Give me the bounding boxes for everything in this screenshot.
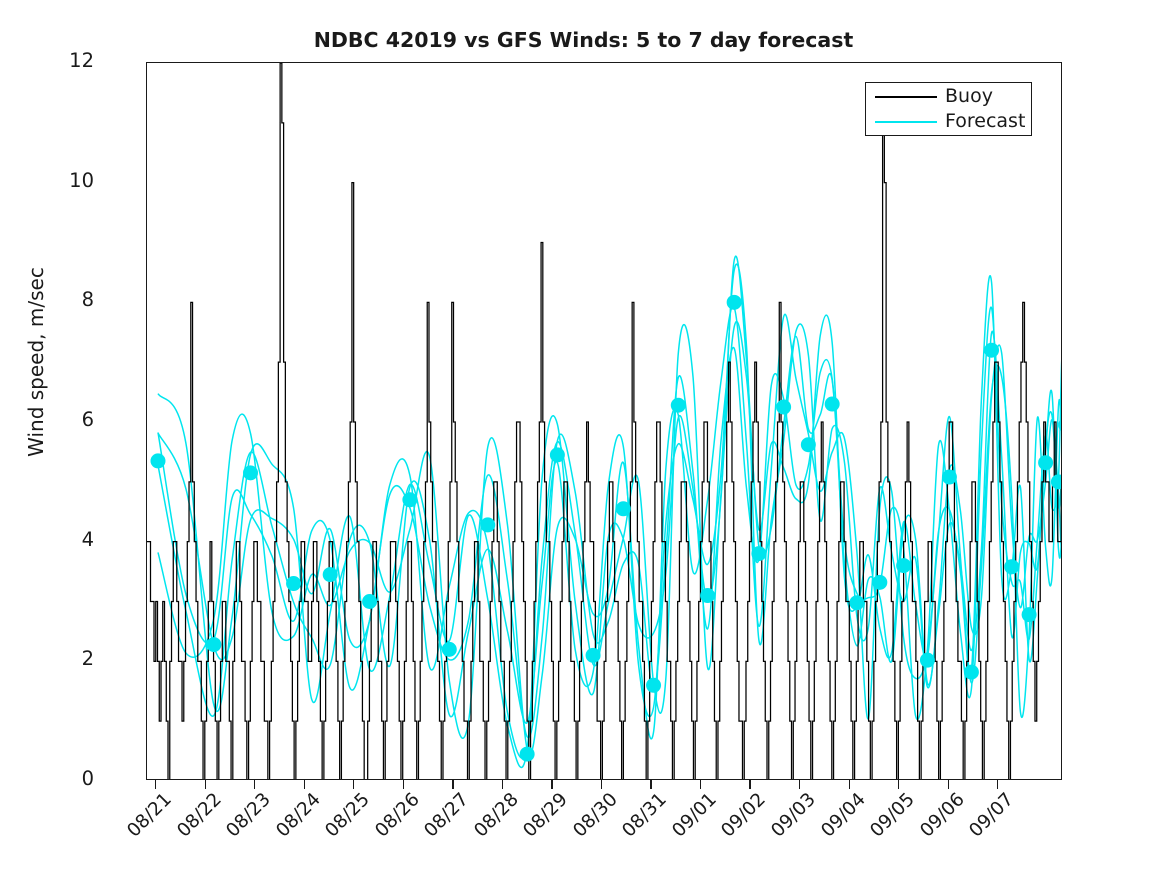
legend-entry-forecast[interactable]: Forecast	[866, 108, 1033, 135]
x-tick-label-08-29: 08/29	[513, 789, 572, 848]
forecast-marker-point	[825, 397, 840, 412]
x-tick-mark	[650, 780, 651, 789]
x-tick-mark	[551, 780, 552, 789]
x-tick-mark	[799, 780, 800, 789]
legend[interactable]: Buoy Forecast	[865, 82, 1032, 136]
x-tick-mark	[403, 780, 404, 789]
forecast-marker-point	[550, 447, 565, 462]
x-tick-label-08-24: 08/24	[266, 789, 325, 848]
forecast-marker-point	[727, 295, 742, 310]
x-tick-label-08-30: 08/30	[563, 789, 622, 848]
x-tick-label-08-28: 08/28	[464, 789, 523, 848]
chart-page: NDBC 42019 vs GFS Winds: 5 to 7 day fore…	[0, 0, 1167, 875]
x-tick-label-08-25: 08/25	[315, 789, 374, 848]
legend-swatch-forecast	[875, 121, 937, 123]
forecast-marker-point	[801, 437, 816, 452]
x-tick-mark	[997, 780, 998, 789]
forecast-marker-point	[896, 558, 911, 573]
legend-swatch-buoy	[875, 96, 937, 98]
forecast-marker-point	[480, 517, 495, 532]
x-tick-label-08-22: 08/22	[167, 789, 226, 848]
legend-label-buoy: Buoy	[945, 83, 993, 110]
forecast-marker-point	[150, 453, 165, 468]
x-tick-label-09-01: 09/01	[662, 789, 721, 848]
x-tick-mark	[205, 780, 206, 789]
x-tick-label-09-05: 09/05	[860, 789, 919, 848]
y-tick-label-8: 8	[34, 288, 94, 311]
x-tick-mark	[452, 780, 453, 789]
x-tick-mark	[700, 780, 701, 789]
y-tick-label-2: 2	[34, 647, 94, 670]
x-tick-mark	[155, 780, 156, 789]
forecast-marker-point	[849, 595, 864, 610]
forecast-marker-point	[402, 492, 417, 507]
x-tick-label-08-31: 08/31	[613, 789, 672, 848]
x-tick-label-08-27: 08/27	[414, 789, 473, 848]
page-title: NDBC 42019 vs GFS Winds: 5 to 7 day fore…	[0, 28, 1167, 52]
forecast-marker-point	[1004, 559, 1019, 574]
x-tick-label-09-04: 09/04	[811, 789, 870, 848]
x-tick-mark	[849, 780, 850, 789]
forecast-marker-point	[920, 653, 935, 668]
x-tick-mark	[353, 780, 354, 789]
y-tick-label-6: 6	[34, 408, 94, 431]
y-tick-label-10: 10	[34, 169, 94, 192]
x-tick-mark	[502, 780, 503, 789]
x-tick-mark	[749, 780, 750, 789]
plot-canvas	[147, 63, 1062, 780]
forecast-marker-point	[442, 642, 457, 657]
x-tick-label-08-21: 08/21	[117, 789, 176, 848]
forecast-marker-point	[362, 594, 377, 609]
legend-entry-buoy[interactable]: Buoy	[866, 83, 1033, 110]
x-tick-label-09-03: 09/03	[761, 789, 820, 848]
forecast-marker-point	[751, 546, 766, 561]
forecast-marker-point	[323, 567, 338, 582]
forecast-marker-point	[984, 343, 999, 358]
x-tick-mark	[254, 780, 255, 789]
forecast-marker-point	[872, 575, 887, 590]
x-tick-mark	[304, 780, 305, 789]
forecast-marker-point	[776, 400, 791, 415]
x-tick-label-09-07: 09/07	[959, 789, 1018, 848]
x-tick-label-08-26: 08/26	[365, 789, 424, 848]
forecast-marker-point	[206, 637, 221, 652]
forecast-marker-point	[671, 398, 686, 413]
x-tick-label-09-06: 09/06	[910, 789, 969, 848]
x-tick-label-08-23: 08/23	[216, 789, 275, 848]
plot-area	[146, 62, 1062, 780]
x-tick-mark	[601, 780, 602, 789]
forecast-marker-point	[616, 501, 631, 516]
forecast-marker-point	[700, 588, 715, 603]
forecast-marker-point	[964, 665, 979, 680]
x-tick-label-09-02: 09/02	[712, 789, 771, 848]
legend-label-forecast: Forecast	[945, 108, 1025, 135]
forecast-marker-point	[520, 747, 535, 762]
forecast-marker-point	[1038, 455, 1053, 470]
forecast-marker-point	[243, 465, 258, 480]
y-tick-label-0: 0	[34, 767, 94, 790]
forecast-marker-point	[646, 678, 661, 693]
forecast-marker-point	[1022, 607, 1037, 622]
y-tick-label-4: 4	[34, 528, 94, 551]
x-tick-mark	[898, 780, 899, 789]
x-tick-mark	[948, 780, 949, 789]
forecast-marker-point	[942, 470, 957, 485]
forecast-marker-point	[586, 648, 601, 663]
y-tick-label-12: 12	[34, 49, 94, 72]
forecast-marker-point	[286, 576, 301, 591]
